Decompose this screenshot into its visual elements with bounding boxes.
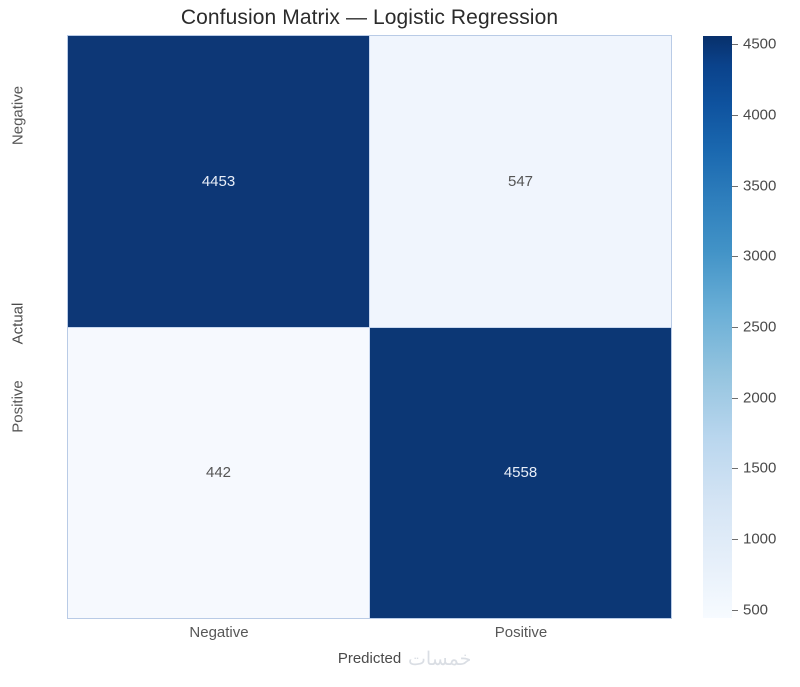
colorbar-tick-mark: [732, 327, 738, 328]
colorbar-tick-mark: [732, 44, 738, 45]
heatmap-grid: 4453 547 442 4558: [68, 36, 671, 618]
y-axis-tick-negative: Negative: [10, 36, 27, 196]
colorbar-gradient: [703, 36, 732, 618]
x-axis-tick-positive: Positive: [421, 624, 621, 641]
matrix-cell-true-positive[interactable]: 4558: [370, 328, 671, 619]
matrix-cell-true-negative[interactable]: 4453: [68, 36, 369, 327]
colorbar-tick-label: 2000: [743, 389, 776, 406]
colorbar-tick-mark: [732, 256, 738, 257]
colorbar-tick-label: 1000: [743, 531, 776, 548]
matrix-cell-value: 547: [508, 173, 533, 190]
colorbar-tick-label: 500: [743, 601, 768, 618]
colorbar-tick-label: 3500: [743, 177, 776, 194]
matrix-cell-false-positive[interactable]: 547: [370, 36, 671, 327]
matrix-cell-value: 4453: [202, 173, 235, 190]
colorbar-tick-mark: [732, 539, 738, 540]
x-axis-label: Predicted: [68, 650, 671, 667]
page-title: Confusion Matrix — Logistic Regression: [68, 6, 671, 30]
colorbar-tick-label: 3000: [743, 248, 776, 265]
matrix-cell-false-negative[interactable]: 442: [68, 328, 369, 619]
colorbar-tick-label: 4500: [743, 36, 776, 53]
colorbar-tick-mark: [732, 115, 738, 116]
x-axis-tick-negative: Negative: [119, 624, 319, 641]
confusion-matrix-figure: Confusion Matrix — Logistic Regression 4…: [0, 0, 800, 687]
matrix-cell-value: 442: [206, 464, 231, 481]
colorbar-tick-mark: [732, 186, 738, 187]
colorbar-tick-label: 1500: [743, 460, 776, 477]
matrix-cell-value: 4558: [504, 464, 537, 481]
colorbar-tick-label: 4000: [743, 106, 776, 123]
colorbar-tick-mark: [732, 610, 738, 611]
colorbar-tick-mark: [732, 468, 738, 469]
colorbar-tick-label: 2500: [743, 319, 776, 336]
y-axis-label: Actual: [10, 264, 27, 384]
colorbar-tick-mark: [732, 398, 738, 399]
